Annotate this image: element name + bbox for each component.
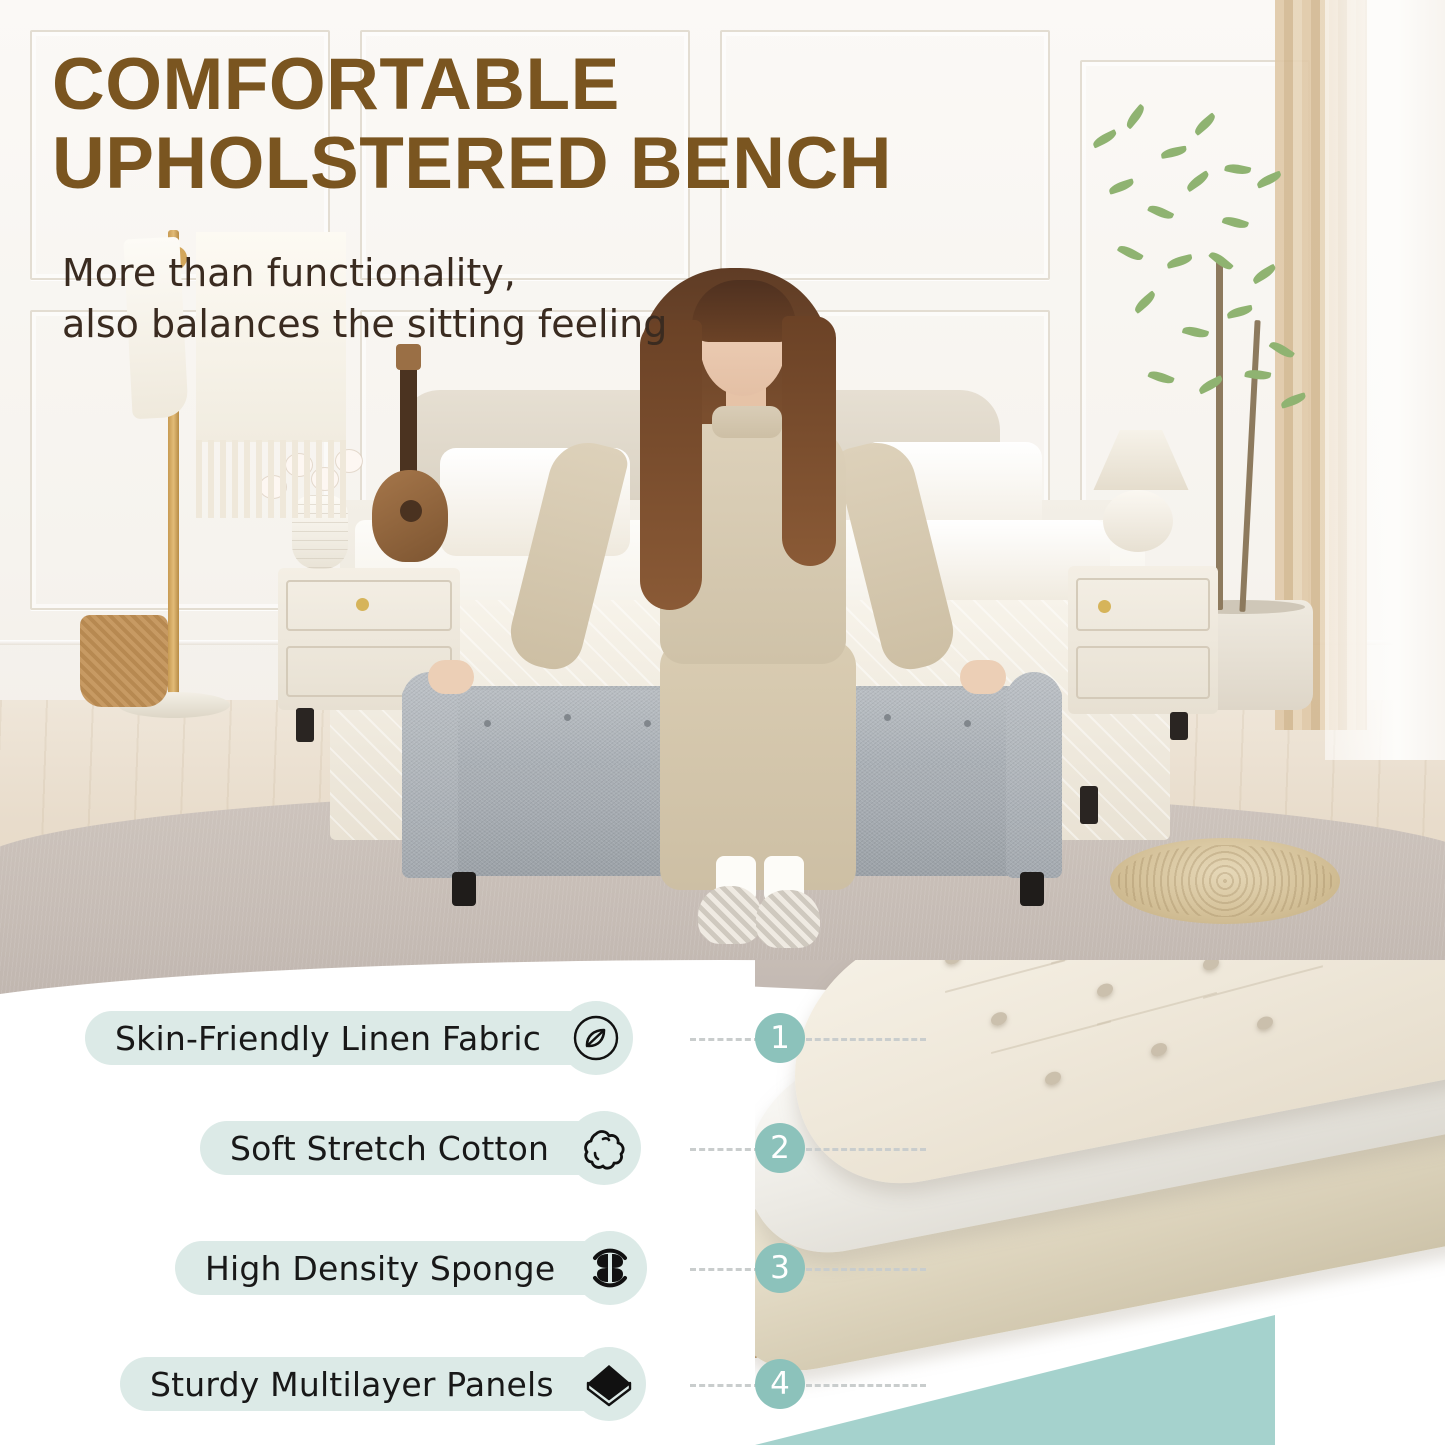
feature-number-badge: 2 [755, 1123, 805, 1173]
woman-sweater-collar [712, 406, 782, 438]
feature-number-badge: 1 [755, 1013, 805, 1063]
nightstand-leg [296, 708, 314, 738]
connector-dash-right [806, 1038, 926, 1041]
subtitle: More than functionality, also balances t… [62, 248, 667, 350]
feature-row: Soft Stretch Cotton 2 [0, 1111, 845, 1185]
ukulele-soundhole [400, 500, 422, 522]
connector-dash-left [690, 1038, 760, 1041]
nightstand-right [1068, 566, 1218, 714]
product-infographic: COMFORTABLE UPHOLSTERED BENCH More than … [0, 0, 1445, 1445]
ukulele-neck [400, 360, 417, 480]
feature-number-badge: 3 [755, 1243, 805, 1293]
layer-stack-illustration [755, 960, 1445, 1445]
slipper-right [756, 890, 820, 948]
feature-list: Skin-Friendly Linen Fabric 1 Soft Stretc… [0, 995, 845, 1425]
drawer-knob [1098, 600, 1111, 613]
feature-label: Soft Stretch Cotton [230, 1129, 549, 1168]
storage-bench-arm-left [402, 672, 458, 878]
headline: COMFORTABLE UPHOLSTERED BENCH [52, 46, 892, 204]
connector-dash-left [690, 1148, 760, 1151]
connector-dash-left [690, 1384, 760, 1387]
leaf-icon [559, 1001, 633, 1075]
straw-pouf [1110, 838, 1340, 924]
woven-basket [80, 615, 168, 707]
connector-dash-right [806, 1268, 926, 1271]
drawer [1076, 578, 1210, 631]
drawer [286, 580, 452, 631]
table-lamp-base [1103, 490, 1173, 552]
feature-row: Skin-Friendly Linen Fabric 1 [0, 1001, 845, 1075]
feature-row: Sturdy Multilayer Panels 4 [0, 1347, 845, 1421]
connector-dash-right [806, 1384, 926, 1387]
storage-bench-leg [1020, 872, 1044, 906]
drawer [1076, 646, 1210, 699]
storage-bench-arm-right [1006, 672, 1062, 878]
plant-foliage [1075, 110, 1335, 450]
storage-bench-leg [452, 872, 476, 906]
subtitle-line-1: More than functionality, [62, 248, 667, 299]
subtitle-line-2: also balances the sitting feeling [62, 299, 667, 350]
woman-hand-left [428, 660, 474, 694]
woman-hair-left [640, 320, 702, 610]
nightstand-leg [1170, 712, 1188, 740]
bed-leg [1080, 786, 1098, 824]
feature-label: Skin-Friendly Linen Fabric [115, 1019, 541, 1058]
feature-pill[interactable]: Skin-Friendly Linen Fabric [85, 1011, 627, 1065]
sponge-cell-icon [573, 1231, 647, 1305]
feature-pill[interactable]: Soft Stretch Cotton [200, 1121, 635, 1175]
woman-hand-right [960, 660, 1006, 694]
feature-row: High Density Sponge 3 [0, 1231, 845, 1305]
curtain-sheer [1325, 0, 1445, 760]
headline-line-1: COMFORTABLE [52, 46, 892, 125]
woman-legs [660, 640, 856, 890]
headline-line-2: UPHOLSTERED BENCH [52, 125, 892, 204]
layered-panel-icon [572, 1347, 646, 1421]
cotton-puff-icon [567, 1111, 641, 1185]
drawer-knob [356, 598, 369, 611]
feature-pill[interactable]: High Density Sponge [175, 1241, 641, 1295]
feature-pill[interactable]: Sturdy Multilayer Panels [120, 1357, 640, 1411]
feature-label: Sturdy Multilayer Panels [150, 1365, 554, 1404]
feature-number-badge: 4 [755, 1359, 805, 1409]
macrame-fringe [196, 440, 346, 518]
slipper-left [698, 886, 762, 944]
connector-dash-left [690, 1268, 760, 1271]
feature-label: High Density Sponge [205, 1249, 555, 1288]
connector-dash-right [806, 1148, 926, 1151]
woman-hair-right [782, 316, 836, 566]
